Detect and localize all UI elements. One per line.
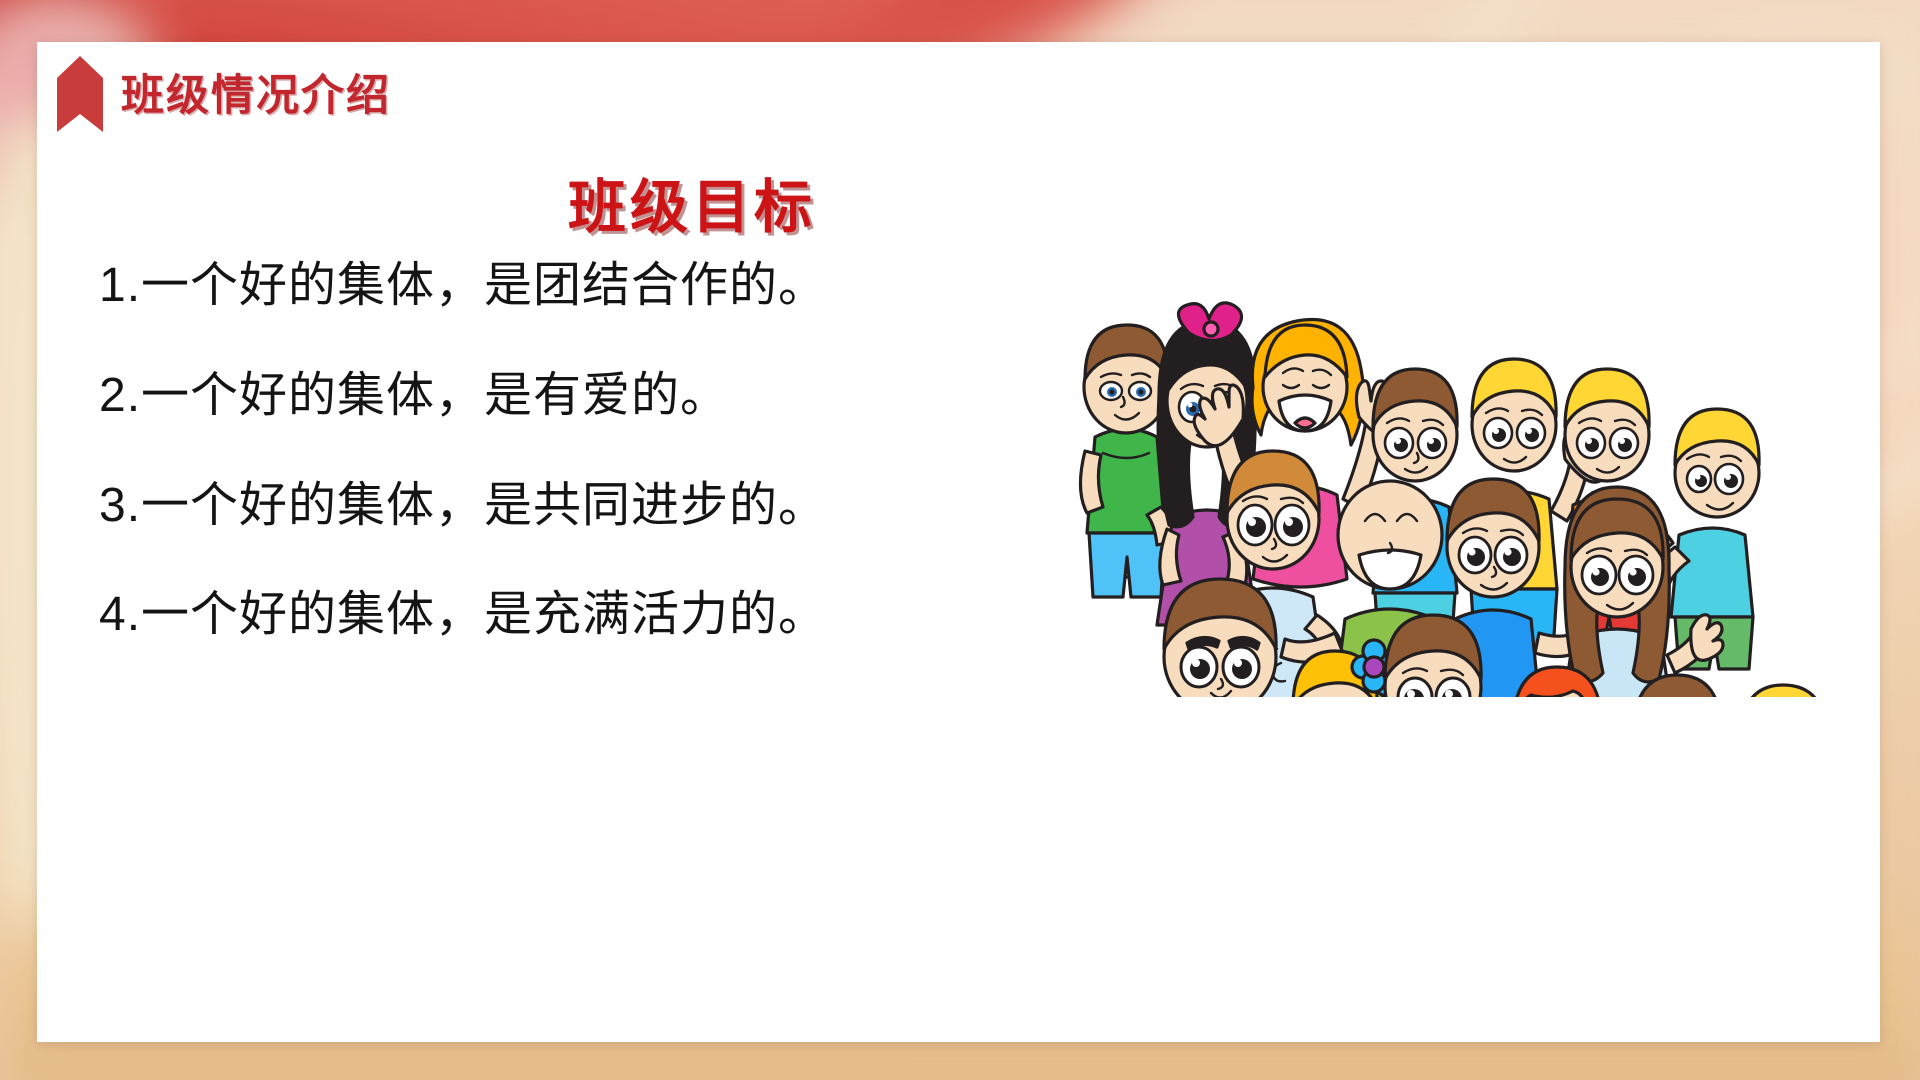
children-group-illustration: .ol { stroke:#231f20; stroke-width:3.2; … <box>1077 267 1837 697</box>
child-front-glasses-girl <box>1725 685 1837 697</box>
slide-canvas: 班级情况介绍 班级目标 1.一个好的集体，是团结合作的。 2.一个好的集体，是有… <box>0 0 1920 1080</box>
list-item: 2.一个好的集体，是有爱的。 <box>99 370 999 422</box>
list-item: 3.一个好的集体，是共同进步的。 <box>99 480 999 532</box>
slide-kicker-label: 班级情况介绍 <box>121 75 391 118</box>
goal-list: 1.一个好的集体，是团结合作的。 2.一个好的集体，是有爱的。 3.一个好的集体… <box>99 260 999 641</box>
list-item: 4.一个好的集体，是充满活力的。 <box>99 589 999 641</box>
content-card: 班级情况介绍 班级目标 1.一个好的集体，是团结合作的。 2.一个好的集体，是有… <box>37 42 1880 1042</box>
bookmark-icon <box>57 56 103 137</box>
page-title: 班级目标 <box>37 160 1347 244</box>
list-item: 1.一个好的集体，是团结合作的。 <box>99 260 999 312</box>
slide-header: 班级情况介绍 <box>57 56 391 137</box>
